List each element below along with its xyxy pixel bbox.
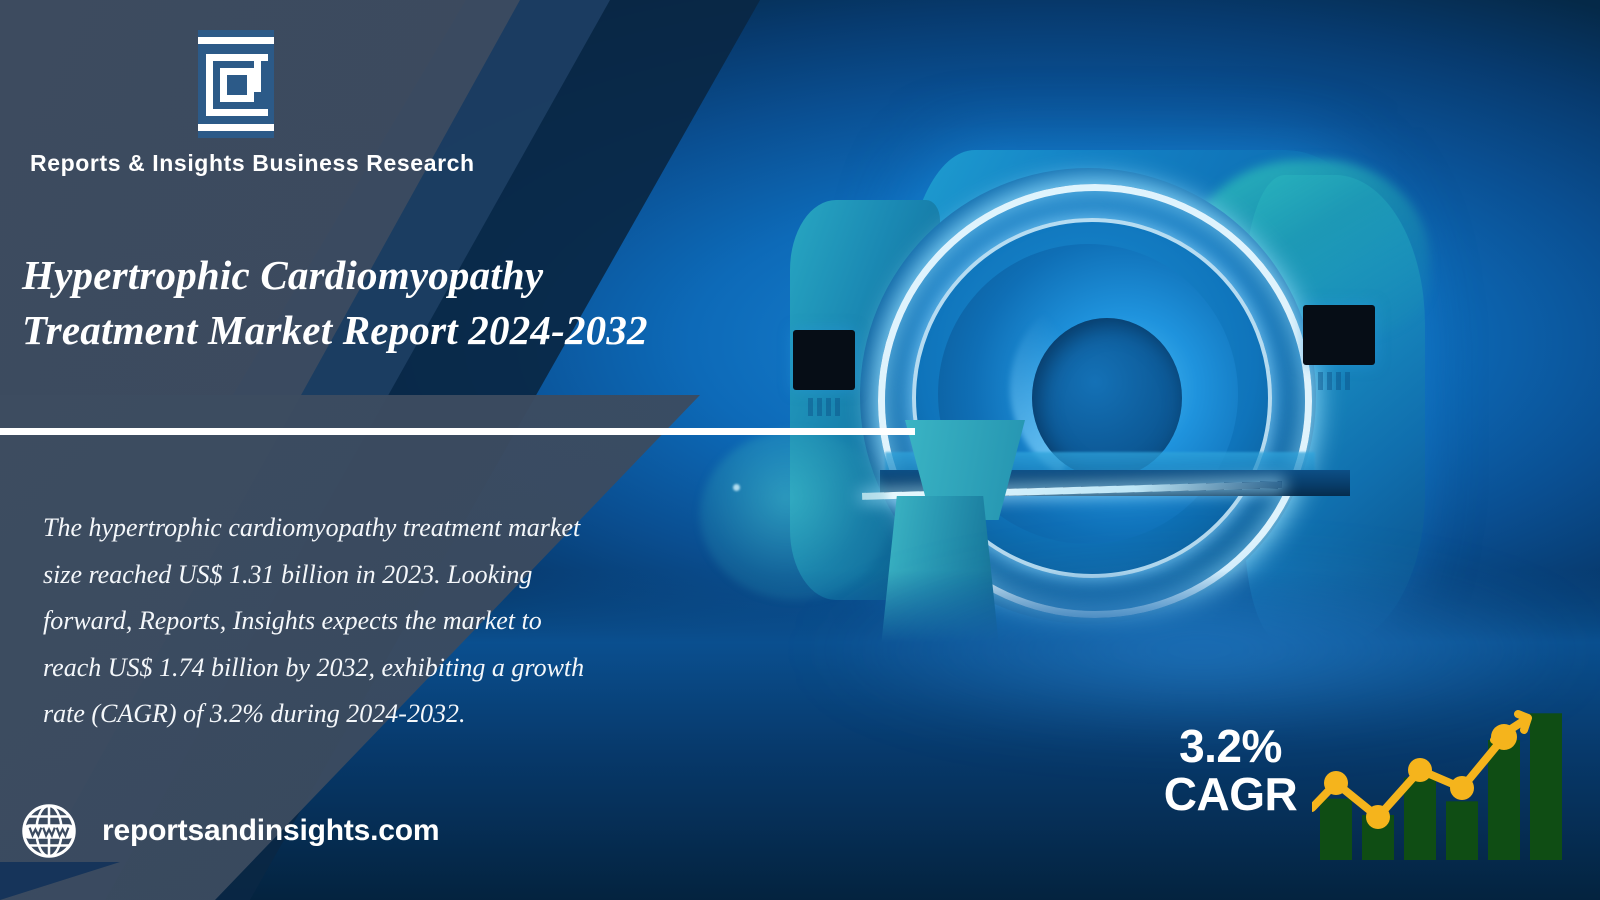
- website-url: reportsandinsights.com: [102, 814, 439, 848]
- report-summary: The hypertrophic cardiomyopathy treatmen…: [43, 505, 588, 738]
- infographic-banner: Reports & Insights Business Research Hyp…: [0, 0, 1600, 900]
- content-layer: Reports & Insights Business Research Hyp…: [0, 0, 1600, 900]
- cagr-label: CAGR: [1163, 770, 1298, 818]
- globe-www-icon: [18, 800, 80, 862]
- title-divider: [0, 428, 915, 435]
- page-title: Hypertrophic Cardiomyopathy Treatment Ma…: [22, 248, 662, 357]
- growth-chart-icon: [1312, 700, 1584, 868]
- cagr-badge: 3.2% CAGR: [1163, 722, 1298, 819]
- brand-name: Reports & Insights Business Research: [30, 150, 650, 177]
- nested-square-spiral-logo-icon: [198, 30, 274, 138]
- footer-website[interactable]: reportsandinsights.com: [18, 800, 439, 862]
- chart-bars: [1320, 713, 1562, 860]
- cagr-value: 3.2%: [1163, 722, 1298, 770]
